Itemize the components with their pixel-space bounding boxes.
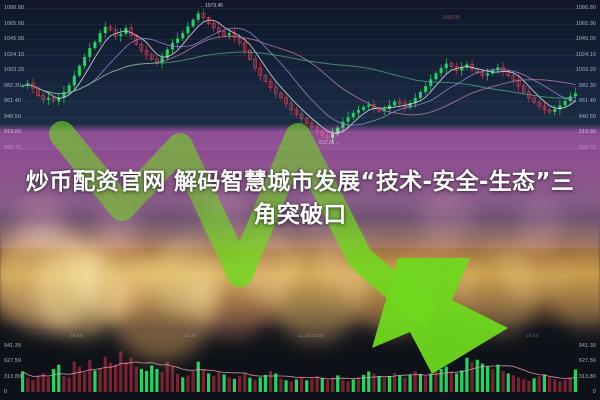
volume-bar (21, 371, 24, 392)
volume-tick-label: 627.59 (548, 358, 596, 364)
volume-bar (429, 373, 432, 392)
volume-tick-label: 941.39 (548, 343, 596, 349)
volume-bar (202, 369, 205, 392)
volume-bar (290, 382, 293, 392)
volume-bar (73, 362, 76, 392)
volume-bar (98, 368, 101, 392)
volume-bar (445, 367, 448, 392)
annotation-high: ←1079.45 (200, 3, 223, 9)
volume-bar (517, 377, 520, 392)
volume-bar (114, 365, 117, 392)
volume-bar (181, 377, 184, 392)
volume-bar (341, 380, 344, 392)
volume-bar (233, 379, 236, 392)
volume-tick-label: 0 (4, 389, 7, 395)
volume-bar (346, 381, 349, 392)
volume-bar (315, 376, 318, 392)
volume-bar (507, 373, 510, 392)
volume-bar (481, 364, 484, 392)
volume-bar (512, 375, 515, 392)
volume-bar (67, 377, 70, 392)
volume-bar (284, 380, 287, 392)
volume-bar (398, 375, 401, 392)
price-tick-label: 961.40 (548, 98, 596, 104)
volume-bar (455, 373, 458, 392)
volume-tick-label: 313.80 (548, 374, 596, 380)
price-tick-label: 1045.00 (4, 36, 24, 42)
chart-banner: 1086.801065.901045.001024.101003.20982.3… (0, 0, 600, 400)
volume-bar (300, 377, 303, 392)
volume-bar (253, 380, 256, 392)
volume-bar (501, 371, 504, 392)
volume-bar (243, 372, 246, 392)
volume-bar (160, 372, 163, 392)
price-tick-label: 1065.90 (548, 21, 596, 27)
volume-bar (522, 379, 525, 392)
price-tick-label: 940.50 (4, 114, 21, 120)
volume-tick-label: 941.39 (4, 343, 21, 349)
volume-bar (465, 358, 468, 392)
volume-bar (331, 377, 334, 392)
volume-bar (377, 376, 380, 392)
page-title: 炒币配资官网 解码智慧城市发展“技术-安全-生态”三角突破口 (22, 166, 578, 231)
volume-bar (150, 366, 153, 392)
volume-bar (357, 377, 360, 392)
time-tick-label: 14:00 (412, 333, 425, 338)
volume-bar (403, 377, 406, 392)
price-tick-label: 1003.20 (4, 67, 24, 73)
volume-tick-label: 627.59 (4, 358, 21, 364)
volume-bar (527, 381, 530, 392)
volume-bar (36, 376, 39, 392)
volume-bar (439, 369, 442, 392)
volume-bar (408, 374, 411, 392)
volume-bar (31, 380, 34, 392)
volume-bar (424, 376, 427, 392)
volume-bar (42, 373, 45, 392)
price-tick-label: 961.40 (4, 98, 21, 104)
volume-bar (62, 376, 65, 392)
volume-bar (228, 377, 231, 392)
volume-bar (352, 379, 355, 392)
volume-bar (383, 378, 386, 392)
volume-bar (470, 362, 473, 392)
volume-bar (26, 378, 29, 392)
price-tick-label: 982.30 (548, 83, 596, 89)
volume-tick-label: 0 (548, 389, 596, 395)
volume-bar (145, 371, 148, 392)
volume-bar (543, 374, 546, 392)
volume-bar (310, 378, 313, 392)
price-tick-label: 1086.80 (548, 5, 596, 11)
price-tick-label: 940.50 (548, 114, 596, 120)
volume-bar (496, 365, 499, 392)
volume-bar (279, 378, 282, 392)
volume-bar (171, 367, 174, 392)
volume-bar (47, 377, 50, 392)
volume-bar (305, 380, 308, 392)
volume-bar (222, 374, 225, 392)
volume-bar (186, 375, 189, 392)
volume-bar (104, 357, 107, 392)
price-tick-label: 1086.80 (4, 5, 24, 11)
volume-bar (176, 374, 179, 392)
volume-bar (140, 369, 143, 392)
volume-bar (52, 369, 55, 392)
time-tick-label: 15:00 (526, 333, 539, 338)
volume-bar (207, 373, 210, 392)
price-tick-label: 982.30 (4, 83, 21, 89)
volume-bar (124, 362, 127, 392)
volume-bar (88, 360, 91, 392)
volume-bar (191, 371, 194, 392)
price-tick-label: 1024.10 (548, 52, 596, 58)
volume-tick-label: 313.80 (4, 374, 21, 380)
volume-bar (476, 360, 479, 392)
volume-bar (372, 373, 375, 392)
volume-bar (295, 379, 298, 392)
volume-bar (197, 362, 200, 392)
annotation-mid: 1066.05 (442, 15, 460, 21)
volume-bar (155, 369, 158, 392)
volume-bar (532, 378, 535, 392)
volume-bar (166, 362, 169, 392)
volume-bar (460, 370, 463, 392)
volume-bar (326, 380, 329, 392)
volume-bar (135, 367, 138, 392)
volume-bar (217, 371, 220, 392)
volume-bar (419, 374, 422, 392)
volume-bar (93, 370, 96, 392)
volume-bar (491, 369, 494, 392)
volume-bar (259, 377, 262, 392)
volume-bar (248, 378, 251, 392)
price-tick-label: 1003.20 (548, 67, 596, 73)
volume-bar (212, 376, 215, 392)
volume-bar (450, 371, 453, 392)
price-tick-label: 1045.00 (548, 36, 596, 42)
volume-bar (238, 376, 241, 392)
price-tick-label: 1065.90 (4, 21, 24, 27)
volume-bar (83, 372, 86, 392)
volume-bar (321, 378, 324, 392)
volume-bar (486, 367, 489, 392)
volume-bar (119, 351, 122, 392)
volume-bar (367, 371, 370, 392)
volume-bar (388, 376, 391, 392)
volume-bar (336, 375, 339, 392)
volume-bar (264, 375, 267, 392)
price-tick-label: 1024.10 (4, 52, 24, 58)
volume-bar (78, 367, 81, 392)
volume-bar (538, 376, 541, 392)
volume-bar (57, 365, 60, 392)
volume-bar (269, 371, 272, 392)
